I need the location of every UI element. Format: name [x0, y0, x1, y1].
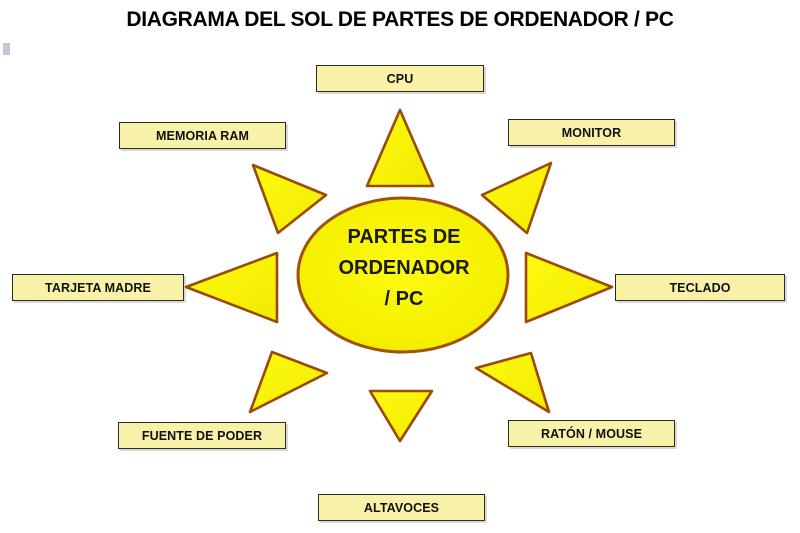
label-text-memoria-ram: MEMORIA RAM	[156, 129, 249, 143]
label-text-tarjeta-madre: TARJETA MADRE	[45, 281, 151, 295]
ray-bottom-right	[476, 353, 549, 412]
ray-left	[186, 253, 277, 322]
label-text-raton-mouse: RATÓN / MOUSE	[541, 427, 642, 441]
ray-top	[367, 110, 433, 186]
label-box-raton-mouse[interactable]: RATÓN / MOUSE	[508, 420, 675, 447]
label-text-teclado: TECLADO	[669, 281, 730, 295]
label-box-teclado[interactable]: TECLADO	[615, 274, 785, 301]
label-text-altavoces: ALTAVOCES	[364, 501, 439, 515]
label-box-fuente-de-poder[interactable]: FUENTE DE PODER	[118, 422, 286, 449]
label-box-monitor[interactable]: MONITOR	[508, 119, 675, 146]
label-text-cpu: CPU	[387, 72, 414, 86]
ray-top-left	[253, 165, 326, 233]
label-box-cpu[interactable]: CPU	[316, 65, 484, 92]
ray-top-right	[482, 163, 551, 233]
label-box-tarjeta-madre[interactable]: TARJETA MADRE	[12, 274, 184, 301]
ray-bottom-left	[250, 352, 327, 412]
label-text-monitor: MONITOR	[562, 126, 622, 140]
ray-bottom	[370, 391, 432, 441]
sun-core	[298, 198, 508, 352]
label-box-altavoces[interactable]: ALTAVOCES	[318, 494, 485, 521]
label-box-memoria-ram[interactable]: MEMORIA RAM	[119, 122, 286, 149]
label-text-fuente-de-poder: FUENTE DE PODER	[142, 429, 262, 443]
ray-right	[526, 253, 612, 322]
diagram-canvas: DIAGRAMA DEL SOL DE PARTES DE ORDENADOR …	[0, 0, 800, 533]
